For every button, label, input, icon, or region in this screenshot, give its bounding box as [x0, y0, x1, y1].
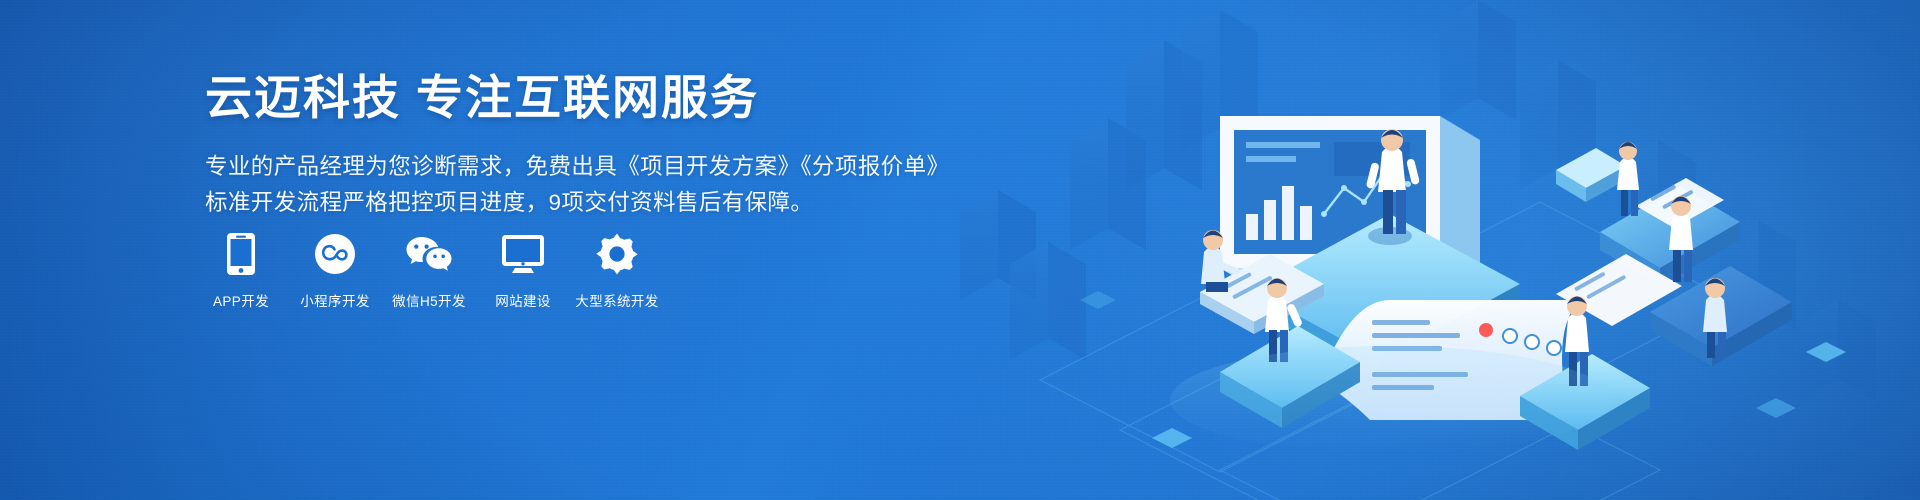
service-label: 网站建设: [495, 290, 551, 310]
illustration-isometric-team-dashboard: [920, 0, 1920, 500]
service-item-mini-program[interactable]: 小程序开发: [299, 232, 371, 310]
monitor-icon: [501, 232, 545, 276]
mini-program-icon: [314, 232, 356, 276]
service-label: 微信H5开发: [392, 290, 466, 310]
wechat-icon: [404, 232, 454, 276]
service-item-large-system[interactable]: 大型系统开发: [581, 232, 653, 310]
service-list: APP开发 小程序开发: [205, 232, 653, 310]
service-item-wechat-h5[interactable]: 微信H5开发: [393, 232, 465, 310]
page-title: 云迈科技 专注互联网服务: [205, 72, 949, 124]
mobile-phone-icon: [226, 232, 256, 276]
service-item-app[interactable]: APP开发: [205, 232, 277, 310]
gear-icon: [596, 232, 638, 276]
service-label: 大型系统开发: [575, 290, 658, 310]
hero-copy: 云迈科技 专注互联网服务 专业的产品经理为您诊断需求，免费出具《项目开发方案》《…: [205, 72, 949, 222]
service-label: APP开发: [213, 290, 269, 310]
hero-subtitle-line-1: 专业的产品经理为您诊断需求，免费出具《项目开发方案》《分项报价单》: [205, 149, 949, 185]
hero-banner: 云迈科技 专注互联网服务 专业的产品经理为您诊断需求，免费出具《项目开发方案》《…: [0, 0, 1920, 500]
hero-subtitle-line-2: 标准开发流程严格把控项目进度，9项交付资料售后有保障。: [205, 185, 949, 221]
service-item-website[interactable]: 网站建设: [487, 232, 559, 310]
service-label: 小程序开发: [300, 290, 370, 310]
hero-subtitle: 专业的产品经理为您诊断需求，免费出具《项目开发方案》《分项报价单》 标准开发流程…: [205, 149, 949, 222]
